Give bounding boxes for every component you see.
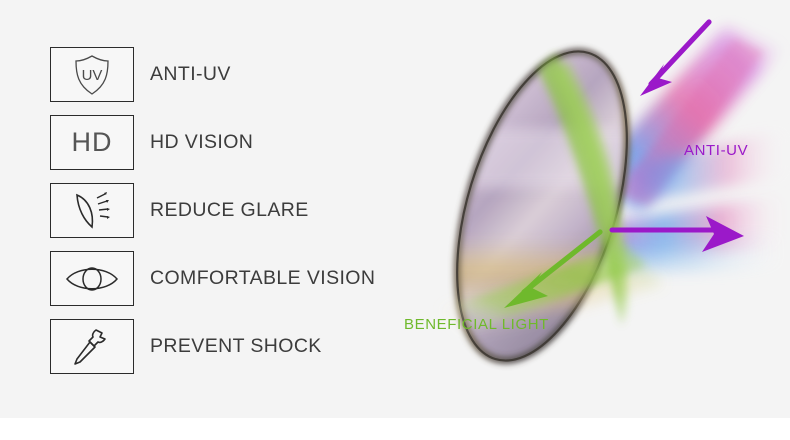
feature-item-comfortable-vision: COMFORTABLE VISION [50,251,430,306]
hammer-icon-box [50,319,134,374]
feature-label-reduce-glare: REDUCE GLARE [150,199,309,222]
beneficial-light-beam-label: BENEFICIAL LIGHT [404,316,549,333]
feature-item-anti-uv: UV ANTI-UV [50,47,430,102]
feature-label-prevent-shock: PREVENT SHOCK [150,335,322,358]
feature-label-comfortable-vision: COMFORTABLE VISION [150,267,375,290]
feature-label-hd-vision: HD VISION [150,131,253,154]
feature-item-reduce-glare: REDUCE GLARE [50,183,430,238]
uv-shield-icon-box: UV [50,47,134,102]
eye-icon [64,263,120,295]
hd-text-icon-box: HD [50,115,134,170]
feature-item-hd-vision: HD HD VISION [50,115,430,170]
coated-lens-illustration [396,8,790,408]
feature-label-anti-uv: ANTI-UV [150,63,231,86]
anti-uv-beam-label: ANTI-UV [684,142,748,159]
hammer-icon [69,324,115,370]
uv-shield-icon-text: UV [82,67,103,84]
glare-deflect-icon [68,189,116,233]
feature-list: UV ANTI-UV HD HD VISION [50,47,430,387]
hd-text-icon: HD [72,127,113,158]
infographic-canvas: UV ANTI-UV HD HD VISION [0,0,790,440]
glare-deflect-icon-box [50,183,134,238]
feature-item-prevent-shock: PREVENT SHOCK [50,319,430,374]
uv-shield-icon: UV [69,52,115,98]
eye-icon-box [50,251,134,306]
